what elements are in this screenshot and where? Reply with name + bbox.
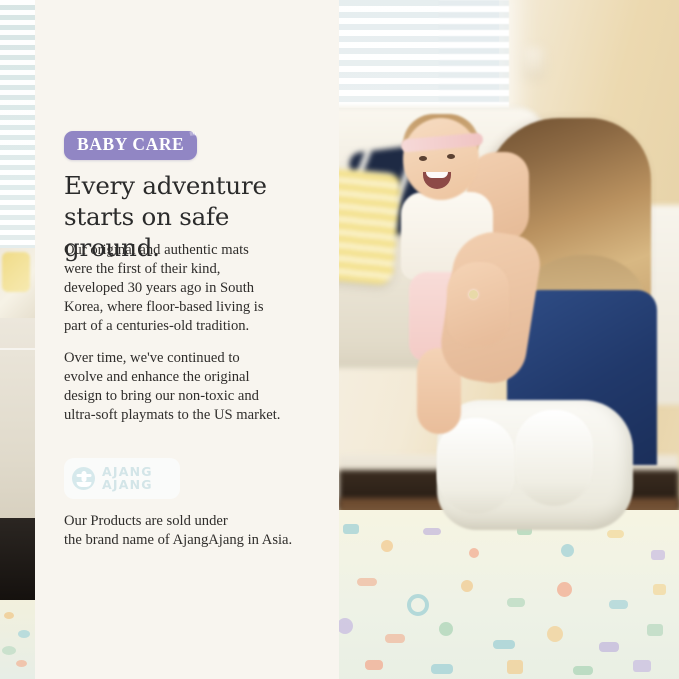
mat-shape	[439, 622, 453, 636]
mat-shape	[647, 624, 663, 636]
mat-shape	[633, 660, 651, 672]
paragraph-line: developed 30 years ago in South	[64, 280, 254, 296]
strip-mat-shape	[2, 646, 16, 655]
paragraph-line: Our original and authentic mats	[64, 242, 249, 258]
mat-shape	[557, 582, 572, 597]
mat-shape	[469, 548, 479, 558]
text-panel: BABY CARE™ Every adventure starts on saf…	[35, 0, 339, 679]
strip-playmat	[0, 600, 35, 679]
yellow-striped-pillow	[339, 167, 402, 286]
strip-window-blinds	[0, 0, 35, 248]
ajang-line-2: AJANG	[102, 479, 153, 492]
baby-care-logo-badge: BABY CARE™	[64, 131, 197, 160]
wedding-ring	[469, 290, 478, 299]
mat-shape	[461, 580, 473, 592]
paragraph-line: evolve and enhance the original	[64, 369, 250, 385]
strip-yellow-pillow	[2, 252, 30, 292]
mother-knee-right	[515, 410, 593, 506]
mat-shape	[343, 524, 359, 534]
mat-shape	[339, 618, 353, 634]
mother-knee-left	[437, 418, 515, 514]
ajang-figure-icon	[72, 467, 95, 490]
paragraph-asia-brand-note: Our Products are sold under the brand na…	[64, 512, 314, 550]
mat-shape	[599, 642, 619, 652]
mat-shape	[357, 578, 377, 586]
mat-shape	[381, 540, 393, 552]
baby-care-label: BABY CARE	[77, 134, 184, 154]
mat-shape	[423, 528, 441, 535]
mat-shape	[547, 626, 563, 642]
paragraph-line: Our Products are sold under	[64, 513, 228, 529]
paragraph-line: were the first of their kind,	[64, 261, 220, 277]
strip-mat-shape	[18, 630, 30, 638]
mat-shape	[573, 666, 593, 675]
mother-hand	[447, 262, 509, 346]
paragraph-line: part of a centuries-old tradition.	[64, 318, 249, 334]
trademark-icon: ™	[189, 132, 196, 139]
ajangajang-logo: AJANG AJANG	[64, 458, 180, 499]
mat-shape	[561, 544, 574, 557]
headline-line-1: Every adventure	[64, 171, 267, 200]
mat-shape	[385, 634, 405, 643]
mat-shape	[653, 584, 666, 595]
paragraph-line: Over time, we've continued to	[64, 350, 240, 366]
strip-mat-shape	[4, 612, 14, 619]
foam-playmat	[339, 510, 679, 679]
strip-mat-shape	[16, 660, 27, 667]
ajangajang-wordmark: AJANG AJANG	[102, 466, 153, 491]
mat-shape	[507, 660, 523, 674]
paragraph-origin-story: Our original and authentic mats were the…	[64, 241, 314, 337]
mat-shape	[407, 594, 429, 616]
baby-care-badge-wrap: BABY CARE™	[64, 131, 197, 160]
mat-shape	[431, 664, 453, 674]
left-photo-strip	[0, 0, 35, 679]
paragraph-line: the brand name of AjangAjang in Asia.	[64, 532, 292, 548]
mat-shape	[507, 598, 525, 607]
mat-shape	[651, 550, 665, 560]
paragraph-line: ultra-soft playmats to the US market.	[64, 407, 280, 423]
baby-eye-left	[419, 156, 427, 161]
wall-switch-plate	[524, 48, 543, 76]
paragraph-line: Korea, where floor-based living is	[64, 299, 264, 315]
strip-sofa-seam	[0, 348, 35, 350]
mat-shape	[607, 530, 624, 538]
paragraph-line: design to bring our non-toxic and	[64, 388, 259, 404]
mat-shape	[609, 600, 628, 609]
baby-eye-right	[447, 154, 455, 159]
brand-story-card: BABY CARE™ Every adventure starts on saf…	[0, 0, 679, 679]
mat-shape	[493, 640, 515, 649]
strip-dark-floor	[0, 518, 35, 600]
lifestyle-photo	[339, 0, 679, 679]
paragraph-evolution: Over time, we've continued to evolve and…	[64, 349, 314, 425]
mat-shape	[365, 660, 383, 670]
